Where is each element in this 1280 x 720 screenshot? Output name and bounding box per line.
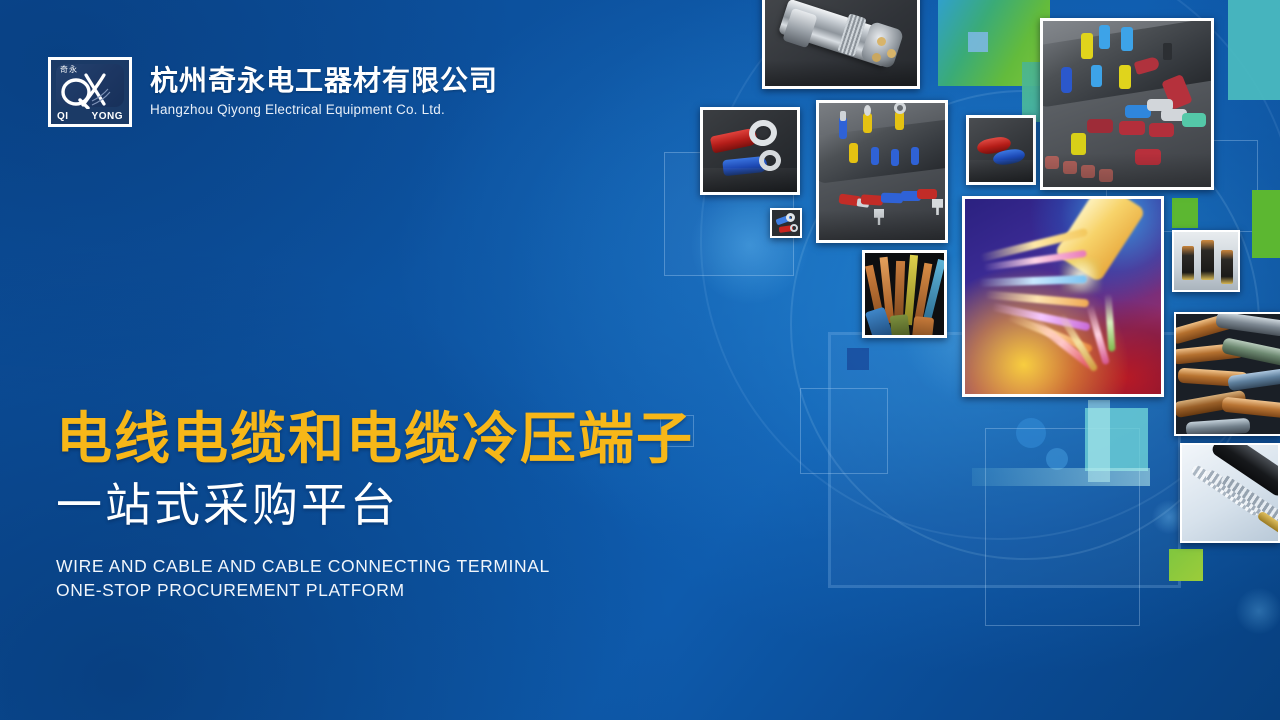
green-square-small [1172, 198, 1198, 228]
logo-pinyin: QI YONG [51, 109, 129, 124]
headline-en-line-1: WIRE AND CABLE AND CABLE CONNECTING TERM… [56, 554, 776, 578]
green-square-lower [1169, 549, 1203, 581]
ring-terminals-thumb[interactable] [770, 208, 802, 238]
light-blue-chip [968, 32, 988, 52]
headline-en-line-2: ONE-STOP PROCUREMENT PLATFORM [56, 578, 776, 602]
teal-square-top-right [1228, 0, 1280, 100]
headline-title-en: WIRE AND CABLE AND CABLE CONNECTING TERM… [56, 554, 776, 602]
green-tab-bar [1022, 62, 1040, 122]
aluminium-cable-photo[interactable] [1180, 443, 1280, 543]
logo-pinyin-yong: YONG [92, 111, 123, 122]
terminal-assortment-photo[interactable] [1040, 18, 1214, 190]
copper-cable-bundle-photo[interactable] [862, 250, 947, 338]
logo-pinyin-qi: QI [57, 111, 69, 122]
cable-ferrules-photo[interactable] [1172, 230, 1240, 292]
company-name-cn: 杭州奇永电工器材有限公司 [150, 64, 498, 98]
company-name-en: Hangzhou Qiyong Electrical Equipment Co.… [150, 100, 498, 120]
aviation-connector-photo[interactable] [762, 0, 920, 89]
headline-title-cn: 电线电缆和电缆冷压端子 [56, 408, 776, 472]
cyan-horizontal-bar [972, 468, 1150, 486]
logo-monogram-qy [58, 71, 114, 109]
green-square-right [1252, 190, 1280, 258]
headline-subtitle-cn: 一站式采购平台 [56, 474, 776, 536]
terminals-on-slate-photo[interactable] [816, 100, 948, 243]
banner-stage: 奇永 QI YONG 杭州奇永电工器材有限公司 Hangzhou Qiyong … [0, 0, 1280, 720]
qiyong-logo[interactable]: 奇永 QI YONG [48, 57, 132, 127]
fiber-optic-photo[interactable] [962, 196, 1164, 397]
company-name-block: 杭州奇永电工器材有限公司 Hangzhou Qiyong Electrical … [150, 64, 498, 120]
brand-block: 奇永 QI YONG 杭州奇永电工器材有限公司 Hangzhou Qiyong … [48, 57, 498, 127]
blue-chip-dark [847, 348, 869, 370]
ring-terminals-photo[interactable] [700, 107, 800, 195]
bullet-connectors-photo[interactable] [966, 115, 1036, 185]
headline-block: 电线电缆和电缆冷压端子 一站式采购平台 WIRE AND CABLE AND C… [56, 408, 776, 602]
copper-conductors-photo[interactable] [1174, 312, 1280, 436]
